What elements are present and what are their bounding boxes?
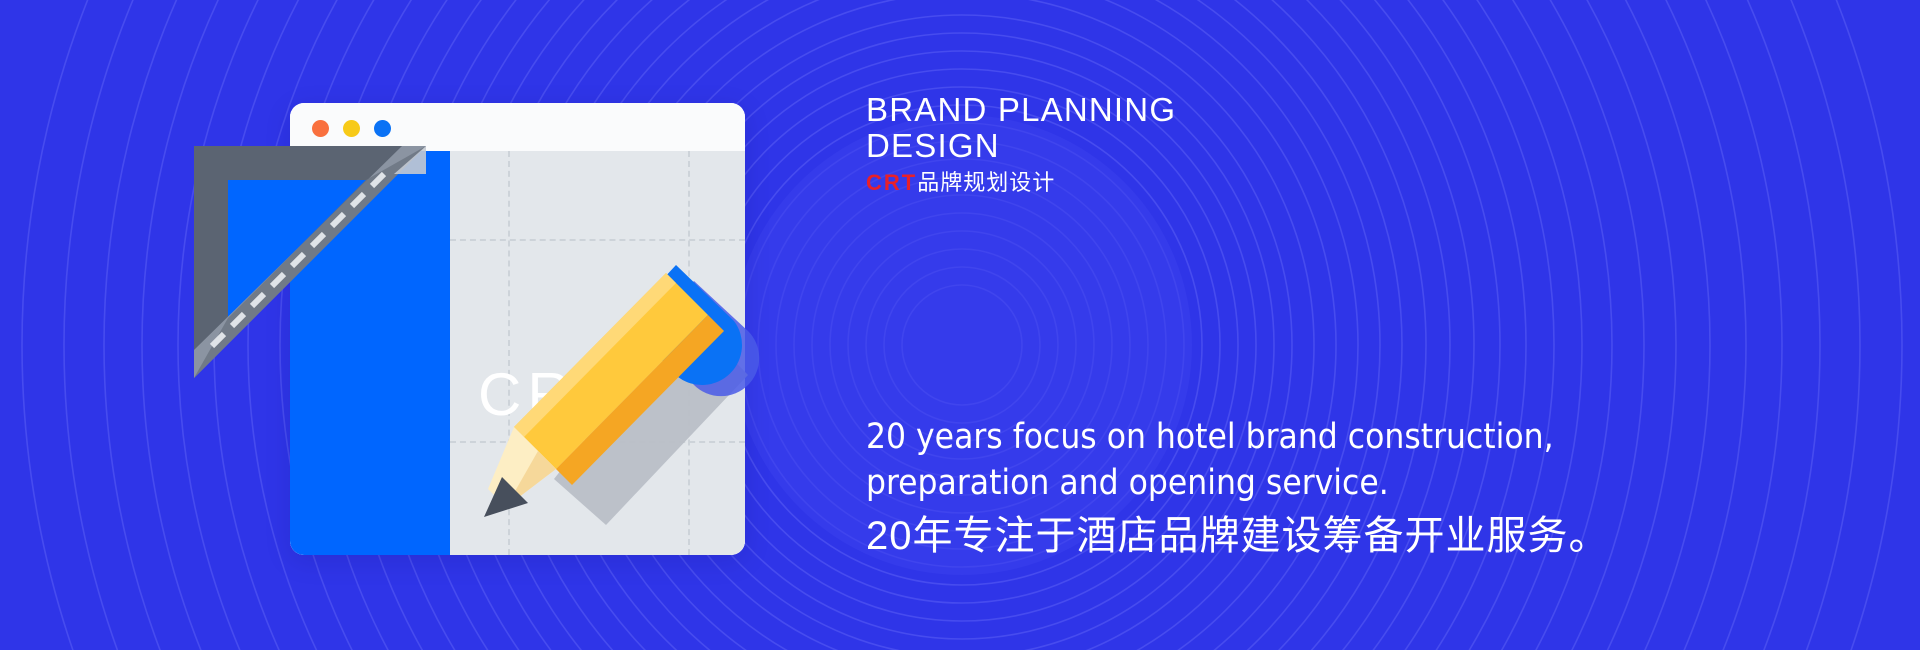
window-dot-blue-icon (374, 120, 391, 137)
triangle-ruler-icon (188, 140, 433, 385)
window-dot-red-icon (312, 120, 329, 137)
headline: BRAND PLANNING DESIGN (866, 92, 1426, 163)
headline-subtitle-cn: 品牌规划设计 (917, 170, 1055, 195)
headline-line1: BRAND PLANNING (866, 92, 1426, 128)
tagline-english: 20 years focus on hotel brand constructi… (866, 414, 1696, 506)
pencil-icon (480, 225, 800, 555)
headline-line2: DESIGN (866, 128, 1426, 164)
headline-subtitle: CRT品牌规划设计 (866, 170, 1055, 196)
brand-design-illustration: CRT (230, 95, 770, 565)
headline-brand-crt: CRT (866, 170, 917, 195)
tagline-en-line2: preparation and opening service. (866, 460, 1696, 506)
tagline-en-line1: 20 years focus on hotel brand constructi… (866, 414, 1696, 460)
brand-banner: CRT (0, 0, 1920, 650)
tagline-chinese: 20年专注于酒店品牌建设筹备开业服务。 (866, 512, 1696, 560)
window-dot-yellow-icon (343, 120, 360, 137)
